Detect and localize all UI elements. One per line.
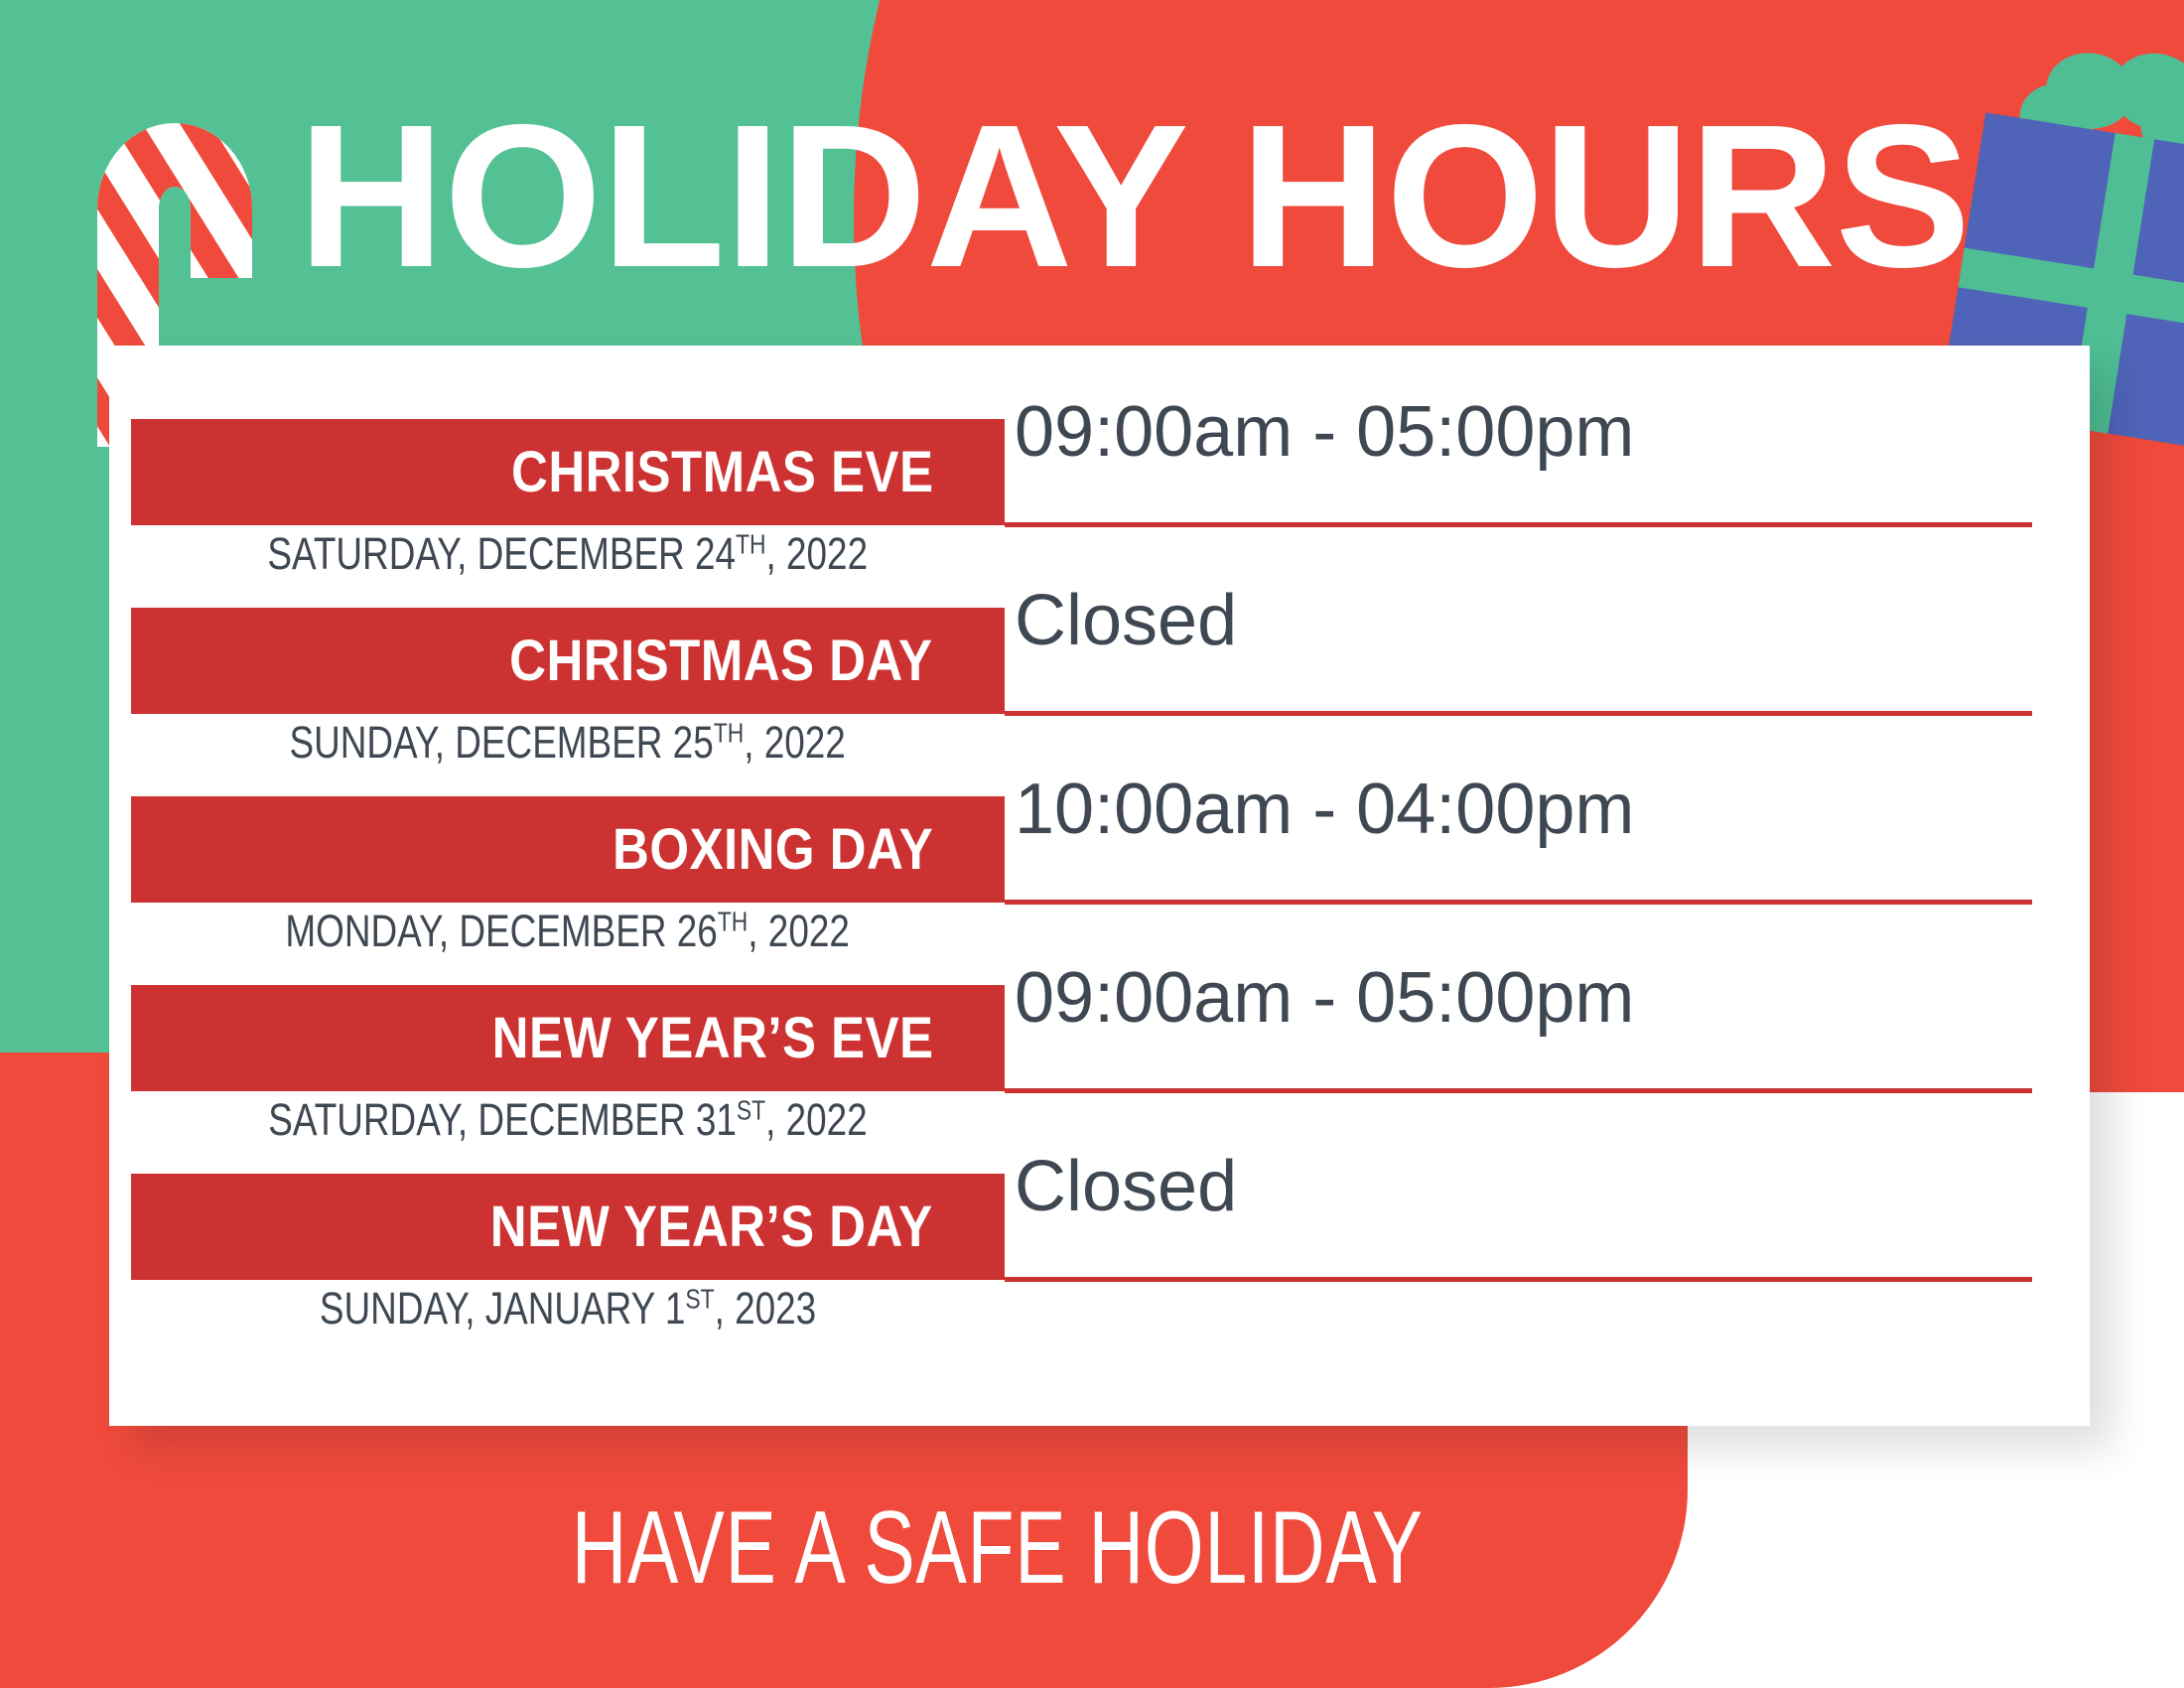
holiday-name-text: CHRISTMAS EVE bbox=[511, 439, 933, 505]
hours-underline bbox=[1005, 1277, 2032, 1282]
hours-underline bbox=[1005, 900, 2032, 905]
hours-card: CHRISTMAS EVESATURDAY, DECEMBER 24TH, 20… bbox=[109, 346, 2090, 1426]
holiday-hours-text: Closed bbox=[1015, 1146, 2017, 1227]
holiday-date-text: SATURDAY, DECEMBER 31ST, 2022 bbox=[131, 1094, 1005, 1146]
holiday-date-text: MONDAY, DECEMBER 26TH, 2022 bbox=[131, 906, 1005, 957]
holiday-hours-text: 09:00am - 05:00pm bbox=[1015, 391, 2017, 473]
holiday-date-text: SUNDAY, JANUARY 1ST, 2023 bbox=[131, 1283, 1005, 1335]
holiday-name-text: NEW YEAR’S EVE bbox=[491, 1005, 933, 1071]
holiday-hours-text: 10:00am - 04:00pm bbox=[1015, 769, 2017, 850]
footer-message-text: HAVE A SAFE HOLIDAY bbox=[572, 1489, 1424, 1608]
holiday-name-bar: CHRISTMAS DAY bbox=[131, 608, 1005, 714]
holiday-hours-poster: HOLIDAY HOURS CHRISTMAS EVESATURDAY, DEC… bbox=[0, 0, 2184, 1688]
hours-underline bbox=[1005, 711, 2032, 716]
page-title: HOLIDAY HOURS bbox=[298, 94, 1936, 298]
holiday-name-text: BOXING DAY bbox=[613, 816, 933, 883]
schedule-list: CHRISTMAS EVESATURDAY, DECEMBER 24TH, 20… bbox=[109, 346, 2090, 1426]
holiday-name-text: NEW YEAR’S DAY bbox=[490, 1194, 933, 1260]
holiday-name-bar: CHRISTMAS EVE bbox=[131, 419, 1005, 525]
holiday-name-text: CHRISTMAS DAY bbox=[510, 628, 933, 694]
holiday-name-bar: NEW YEAR’S EVE bbox=[131, 985, 1005, 1091]
hours-underline bbox=[1005, 1088, 2032, 1093]
holiday-hours-text: 09:00am - 05:00pm bbox=[1015, 957, 2017, 1039]
footer-message: HAVE A SAFE HOLIDAY bbox=[0, 1489, 1995, 1608]
hours-underline bbox=[1005, 522, 2032, 527]
schedule-row: NEW YEAR’S DAYSUNDAY, JANUARY 1ST, 2023C… bbox=[109, 1174, 2090, 1362]
holiday-date-text: SUNDAY, DECEMBER 25TH, 2022 bbox=[131, 717, 1005, 769]
holiday-name-bar: BOXING DAY bbox=[131, 796, 1005, 903]
holiday-date-text: SATURDAY, DECEMBER 24TH, 2022 bbox=[131, 528, 1005, 580]
holiday-hours-text: Closed bbox=[1015, 580, 2017, 661]
holiday-name-bar: NEW YEAR’S DAY bbox=[131, 1174, 1005, 1280]
